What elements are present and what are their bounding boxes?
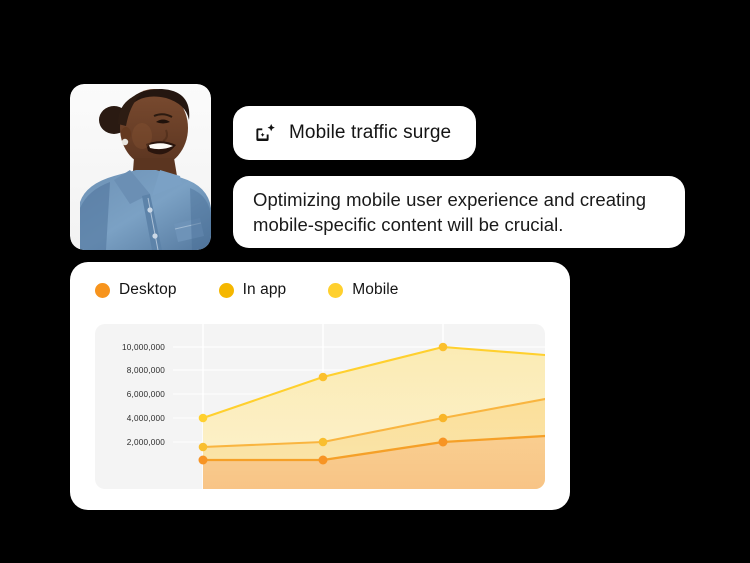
legend-label-in-app: In app	[243, 281, 287, 299]
ytick-2m: 2,000,000	[127, 438, 165, 447]
legend-dot-in-app	[219, 283, 234, 298]
bubble-title-text: Mobile traffic surge	[289, 122, 451, 144]
screenshot-root: Mobile traffic surge Optimizing mobile u…	[0, 0, 750, 563]
datapoint-desktop-1	[199, 456, 208, 465]
datapoint-mobile-3	[439, 343, 448, 352]
ytick-4m: 4,000,000	[127, 414, 165, 423]
legend-item-desktop[interactable]: Desktop	[95, 281, 177, 299]
legend-item-mobile[interactable]: Mobile	[328, 281, 398, 299]
legend-label-mobile: Mobile	[352, 281, 398, 299]
bubble-body-line2: mobile-specific content will be crucial.	[253, 214, 563, 235]
chat-bubble-body: Optimizing mobile user experience and cr…	[233, 176, 685, 248]
bubble-body-line1: Optimizing mobile user experience and cr…	[253, 189, 646, 210]
chat-bubble-title: Mobile traffic surge	[233, 106, 476, 160]
chart-y-axis-labels: 10,000,000 8,000,000 6,000,000 4,000,000…	[122, 343, 165, 447]
chart-card: Desktop In app Mobile	[70, 262, 570, 510]
ytick-6m: 6,000,000	[127, 390, 165, 399]
datapoint-mobile-1	[199, 414, 208, 423]
legend-item-in-app[interactable]: In app	[219, 281, 287, 299]
bubble-body-text: Optimizing mobile user experience and cr…	[253, 187, 646, 237]
ai-sparkle-icon	[253, 121, 277, 145]
datapoint-mobile-2	[319, 373, 328, 382]
portrait-photo	[70, 84, 211, 250]
chart-plot-area: 10,000,000 8,000,000 6,000,000 4,000,000…	[95, 324, 545, 489]
datapoint-inapp-2	[319, 438, 328, 447]
legend-label-desktop: Desktop	[119, 281, 177, 299]
avatar	[70, 84, 211, 250]
datapoint-desktop-3	[439, 438, 448, 447]
datapoint-desktop-2	[319, 456, 328, 465]
chart-legend: Desktop In app Mobile	[95, 281, 399, 299]
legend-dot-desktop	[95, 283, 110, 298]
legend-dot-mobile	[328, 283, 343, 298]
ytick-8m: 8,000,000	[127, 366, 165, 375]
datapoint-inapp-3	[439, 414, 448, 423]
ytick-10m: 10,000,000	[122, 343, 165, 352]
datapoint-inapp-1	[199, 443, 208, 452]
area-chart: 10,000,000 8,000,000 6,000,000 4,000,000…	[95, 324, 545, 489]
